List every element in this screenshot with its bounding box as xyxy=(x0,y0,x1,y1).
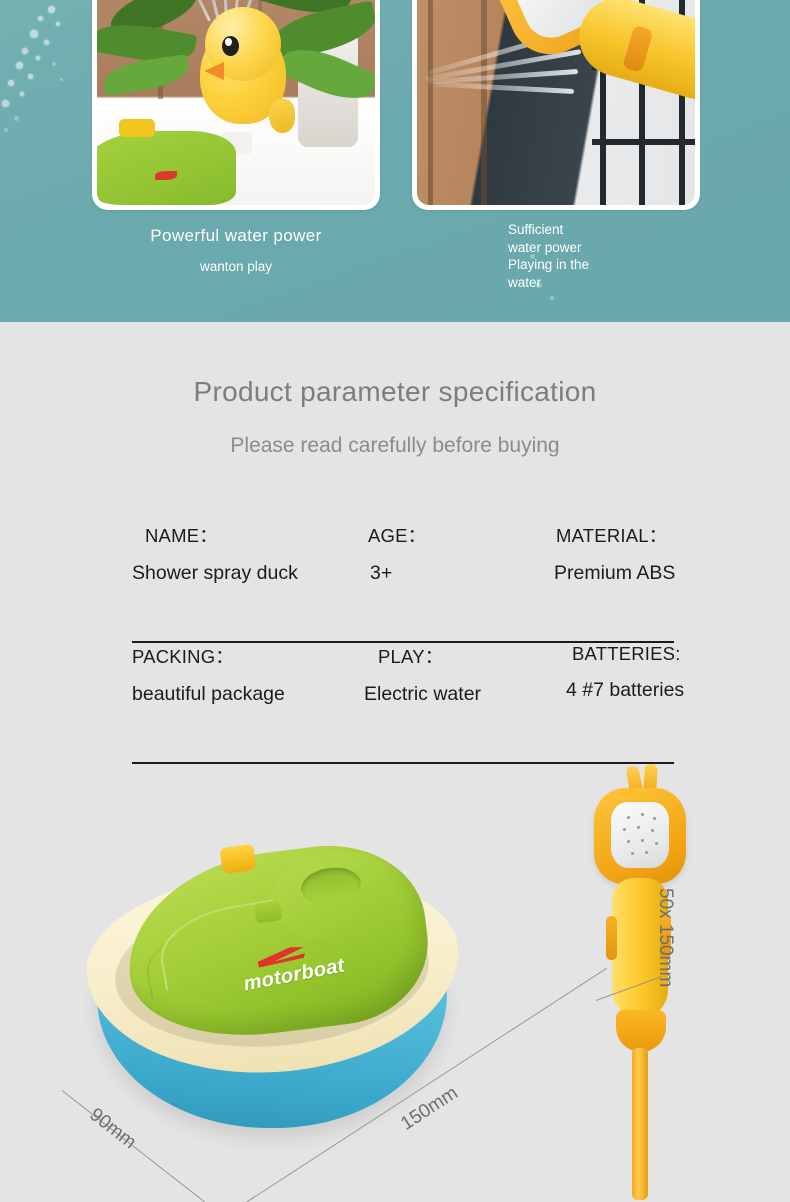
caption-left-sub: wanton play xyxy=(92,259,380,274)
photo-duck-sprayer xyxy=(97,0,375,205)
table-row: NAME： Shower spray duck AGE： 3+ MATERIAL… xyxy=(132,522,674,643)
shower-hose xyxy=(632,1048,648,1200)
spec-label: AGE： xyxy=(364,522,514,548)
shower-button-left xyxy=(606,916,617,960)
boat-knob-icon xyxy=(219,844,256,874)
spec-cell-batteries: BATTERIES: 4 #7 batteries xyxy=(514,643,674,706)
spec-label: PLAY： xyxy=(364,643,514,669)
spec-cell-play: PLAY： Electric water xyxy=(364,643,514,706)
dimension-label-shower: 50x 150mm xyxy=(654,888,676,987)
spec-cell-name: NAME： Shower spray duck xyxy=(132,522,364,585)
spec-label: BATTERIES: xyxy=(514,643,674,665)
spec-value: Electric water xyxy=(364,683,514,706)
spec-value: Premium ABS xyxy=(514,562,674,585)
spec-cell-age: AGE： 3+ xyxy=(364,522,514,585)
caption-left-main: Powerful water power xyxy=(92,226,380,246)
spec-table: NAME： Shower spray duck AGE： 3+ MATERIAL… xyxy=(132,522,674,764)
photo-card-duck-sprayer[interactable] xyxy=(92,0,380,210)
caption-right-line3: Playing in the xyxy=(508,256,728,274)
caption-right: Sufficient water power Playing in the wa… xyxy=(508,221,728,291)
caption-right-line1: Sufficient xyxy=(508,221,728,239)
hero-banner: Powerful water power wanton play Suffici… xyxy=(0,0,790,322)
toy-boat-illustration: motorboat xyxy=(75,830,470,1130)
spec-value: 4 #7 batteries xyxy=(514,679,674,702)
table-row: PACKING： beautiful package PLAY： Electri… xyxy=(132,643,674,764)
photo-card-shower-spray[interactable] xyxy=(412,0,700,210)
caption-right-line2: water power xyxy=(508,239,728,257)
product-detail-page: Powerful water power wanton play Suffici… xyxy=(0,0,790,1202)
spec-label: NAME： xyxy=(132,522,364,548)
spec-value: 3+ xyxy=(364,562,514,585)
spec-cell-material: MATERIAL： Premium ABS xyxy=(514,522,674,585)
page-title: Product parameter specification xyxy=(0,376,790,408)
spec-label: PACKING： xyxy=(132,643,364,669)
spec-value: Shower spray duck xyxy=(132,562,364,585)
photo-shower-spray xyxy=(417,0,695,205)
spec-label: MATERIAL： xyxy=(514,522,674,548)
spec-value: beautiful package xyxy=(132,683,364,706)
caption-right-line4: water xyxy=(508,274,728,292)
page-subtitle: Please read carefully before buying xyxy=(0,434,790,458)
spec-cell-packing: PACKING： beautiful package xyxy=(132,643,364,706)
